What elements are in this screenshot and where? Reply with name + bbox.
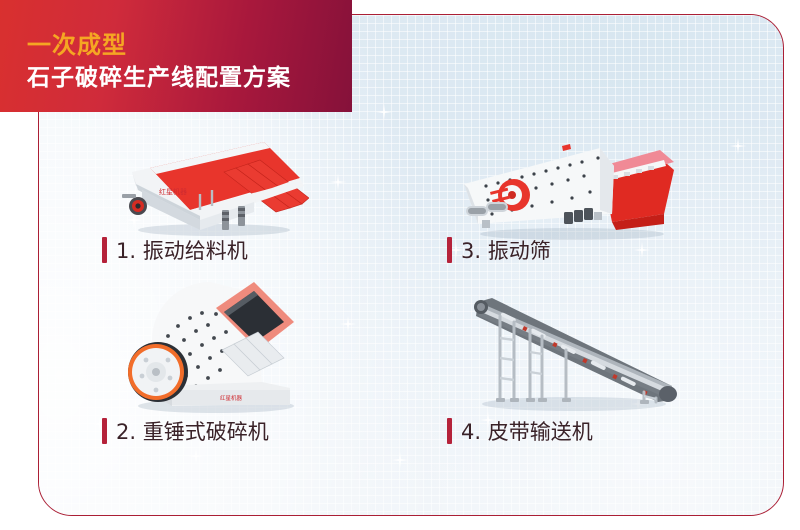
label-item-4: 4. 皮带输送机 xyxy=(447,416,593,446)
label-item-1: 1. 振动给料机 xyxy=(102,235,248,265)
header-banner: 一次成型 石子破碎生产线配置方案 xyxy=(0,0,352,112)
label-text: 3. 振动筛 xyxy=(461,235,551,265)
label-item-2: 2. 重锤式破碎机 xyxy=(102,416,269,446)
label-accent-bar xyxy=(102,237,107,263)
label-accent-bar xyxy=(447,237,452,263)
svg-text:红星机器: 红星机器 xyxy=(220,394,243,402)
svg-text:红星机器: 红星机器 xyxy=(159,187,187,196)
vibrating-screen-image xyxy=(452,130,677,240)
belt-conveyor-image xyxy=(466,282,681,412)
label-text: 1. 振动给料机 xyxy=(116,235,248,265)
infographic-stage: 红星机器 xyxy=(0,0,800,530)
label-item-3: 3. 振动筛 xyxy=(447,235,551,265)
hammer-crusher-image: 红星机器 xyxy=(112,278,312,413)
label-accent-bar xyxy=(447,418,452,444)
banner-line-2: 石子破碎生产线配置方案 xyxy=(27,58,291,92)
banner-line-1: 一次成型 xyxy=(27,25,127,60)
label-accent-bar xyxy=(102,418,107,444)
label-text: 2. 重锤式破碎机 xyxy=(116,416,269,446)
label-text: 4. 皮带输送机 xyxy=(461,416,593,446)
vibrating-feeder-image: 红星机器 xyxy=(104,132,309,237)
